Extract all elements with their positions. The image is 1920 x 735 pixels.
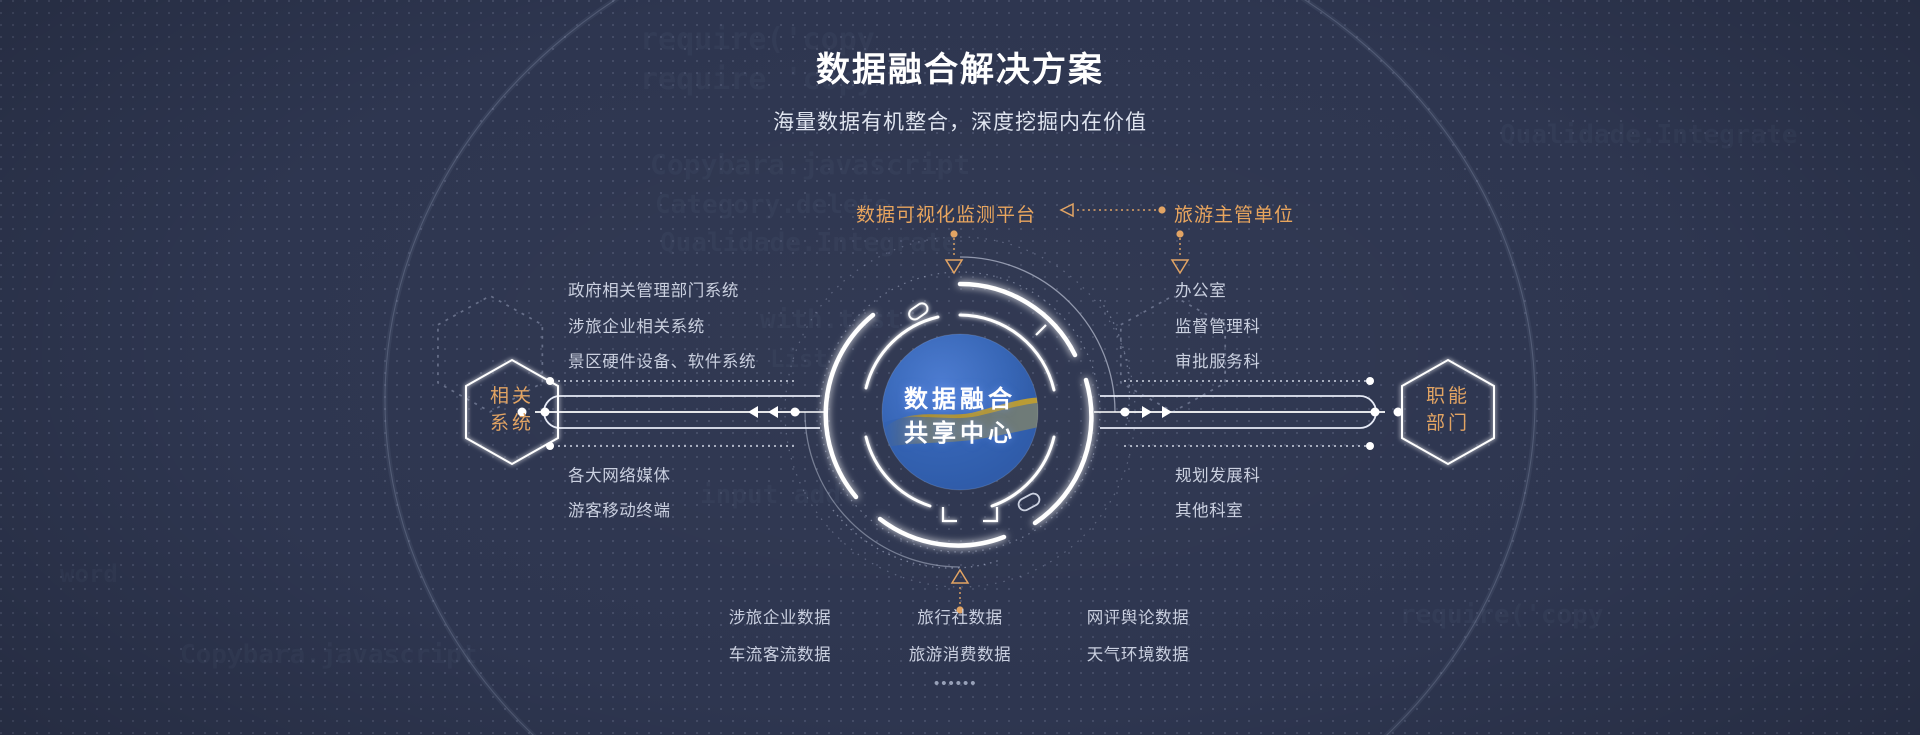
left-arrow-2	[748, 406, 758, 418]
bottom-item-5[interactable]: 天气环境数据	[1048, 641, 1228, 665]
left-pipe-bracket	[544, 396, 820, 428]
left-item-0[interactable]: 政府相关管理部门系统	[568, 277, 739, 301]
left-item-1[interactable]: 涉旅企业相关系统	[568, 313, 705, 337]
dotted-arc-bottom	[833, 510, 1000, 568]
page-subtitle: 海量数据有机整合，深度挖掘内在价值	[0, 106, 1920, 136]
right-hexagon-line1: 职能	[1426, 386, 1470, 407]
ring-left-connector	[792, 408, 826, 415]
bottom-item-3[interactable]: 车流客流数据	[690, 641, 870, 665]
core-line2: 共享中心	[904, 420, 1016, 447]
dotted-arc-right	[1100, 300, 1129, 430]
label-data-visual-platform[interactable]: 数据可视化监测平台	[856, 200, 1036, 227]
left-item-3[interactable]: 各大网络媒体	[568, 462, 671, 486]
top-right-orange-connector	[1172, 230, 1188, 273]
right-item-2[interactable]: 审批服务科	[1175, 348, 1261, 372]
left-hexagon-line1: 相关	[490, 386, 534, 407]
right-item-1[interactable]: 监督管理科	[1175, 313, 1261, 337]
bottom-item-4[interactable]: 旅游消费数据	[880, 641, 1040, 665]
ring-right-connector	[1094, 408, 1128, 415]
code-snippet: word	[60, 560, 118, 588]
label-tourism-authority[interactable]: 旅游主管单位	[1174, 200, 1294, 227]
bottom-item-1[interactable]: 旅行社数据	[880, 604, 1040, 628]
down-triangle-icon	[946, 260, 962, 273]
left-hexagon-group[interactable]	[438, 296, 558, 464]
left-hexagon-line2: 系统	[490, 413, 534, 434]
infographic-canvas: require('copy require 'copy Copybara.jav…	[0, 0, 1920, 735]
right-dot-upper	[1366, 377, 1374, 385]
bottom-item-0[interactable]: 涉旅企业数据	[690, 604, 870, 628]
right-item-0[interactable]: 办公室	[1175, 277, 1226, 301]
right-hexagon-line2: 部门	[1426, 413, 1470, 434]
code-snippet: Qualidade.Integrate	[660, 228, 957, 258]
bottom-ellipsis: ••••••	[934, 675, 978, 692]
core-label: 数据融合 共享中心	[860, 383, 1060, 451]
right-spine-dot-c	[1121, 408, 1130, 417]
left-item-4[interactable]: 游客移动终端	[568, 497, 671, 521]
code-snippet: Copybara.javascript	[650, 148, 970, 181]
bottom-item-2[interactable]: 网评舆论数据	[1048, 604, 1228, 628]
ring-node-box-top	[907, 301, 930, 321]
page-title: 数据融合解决方案	[0, 42, 1920, 91]
right-hexagon-label[interactable]: 职能 部门	[1378, 383, 1518, 437]
right-arrow-2	[1162, 406, 1172, 418]
left-spine-dot-c	[791, 408, 800, 417]
code-snippet: List	[770, 345, 828, 373]
left-arrow-1	[768, 406, 778, 418]
right-arrow-1	[1142, 406, 1152, 418]
code-snippet: require('copy	[1400, 600, 1604, 630]
code-snippet: input add	[700, 480, 841, 510]
left-hexagon-label[interactable]: 相关 系统	[442, 383, 582, 437]
left-dot-lower	[546, 442, 554, 450]
left-item-2[interactable]: 景区硬件设备、软件系统	[568, 348, 756, 372]
top-left-orange-connector	[946, 230, 962, 273]
top-horizontal-orange-connector	[1061, 204, 1166, 216]
code-snippet: Category.delete	[655, 190, 890, 220]
core-line1: 数据融合	[904, 386, 1016, 413]
down-triangle-icon	[1172, 260, 1188, 273]
left-triangle-arrow-icon	[1061, 204, 1073, 216]
right-dot-lower	[1366, 442, 1374, 450]
code-snippet: with.test	[760, 305, 901, 335]
code-snippet: Copybara.javascript	[180, 640, 477, 670]
right-pipe-bracket	[1100, 396, 1376, 428]
right-connector-group	[1100, 377, 1403, 450]
right-item-3[interactable]: 规划发展科	[1175, 462, 1261, 486]
right-item-4[interactable]: 其他科室	[1175, 497, 1243, 521]
ring-node-box-bottom	[1016, 492, 1041, 513]
up-triangle-icon	[952, 570, 968, 583]
